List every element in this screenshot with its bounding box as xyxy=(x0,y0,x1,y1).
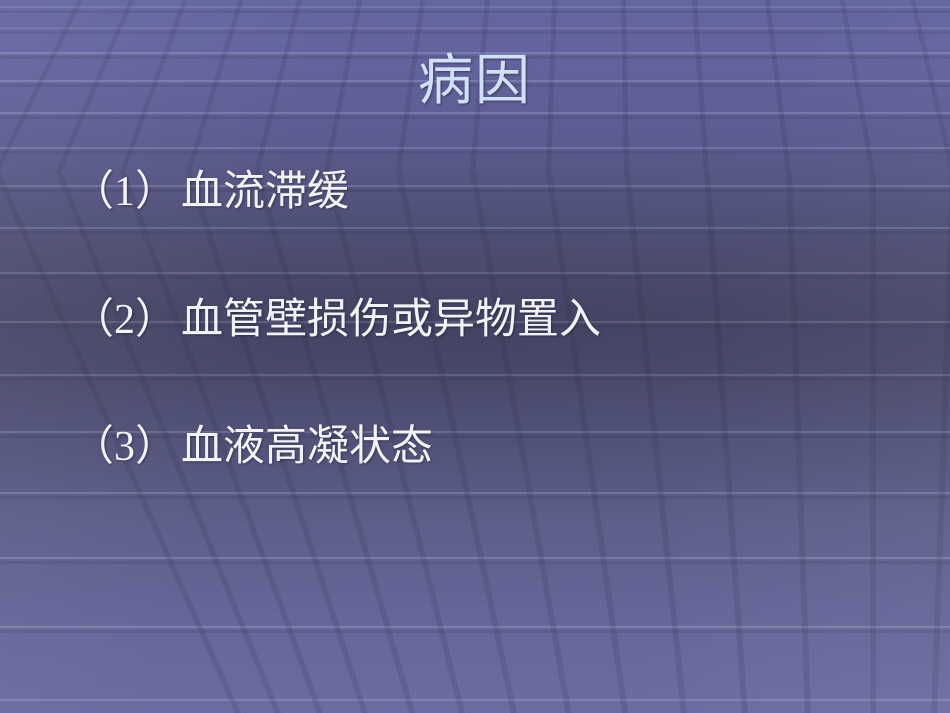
list-item-text: 血管壁损伤或异物置入 xyxy=(181,297,601,343)
list-item-text: 血液高凝状态 xyxy=(181,424,433,470)
list-item: （2）血管壁损伤或异物置入 xyxy=(72,296,910,346)
list-item: （3）血液高凝状态 xyxy=(72,423,910,473)
presentation-slide: 病因 （1）血流滞缓 （2）血管壁损伤或异物置入 （3）血液高凝状态 xyxy=(0,0,950,713)
list-item-marker: （2） xyxy=(72,297,177,343)
list-item-text: 血流滞缓 xyxy=(181,169,349,215)
list-item-marker: （3） xyxy=(72,424,177,470)
slide-body-list: （1）血流滞缓 （2）血管壁损伤或异物置入 （3）血液高凝状态 xyxy=(72,168,910,473)
slide-title: 病因 xyxy=(0,52,950,110)
list-item-marker: （1） xyxy=(72,169,177,215)
list-item: （1）血流滞缓 xyxy=(72,168,910,218)
